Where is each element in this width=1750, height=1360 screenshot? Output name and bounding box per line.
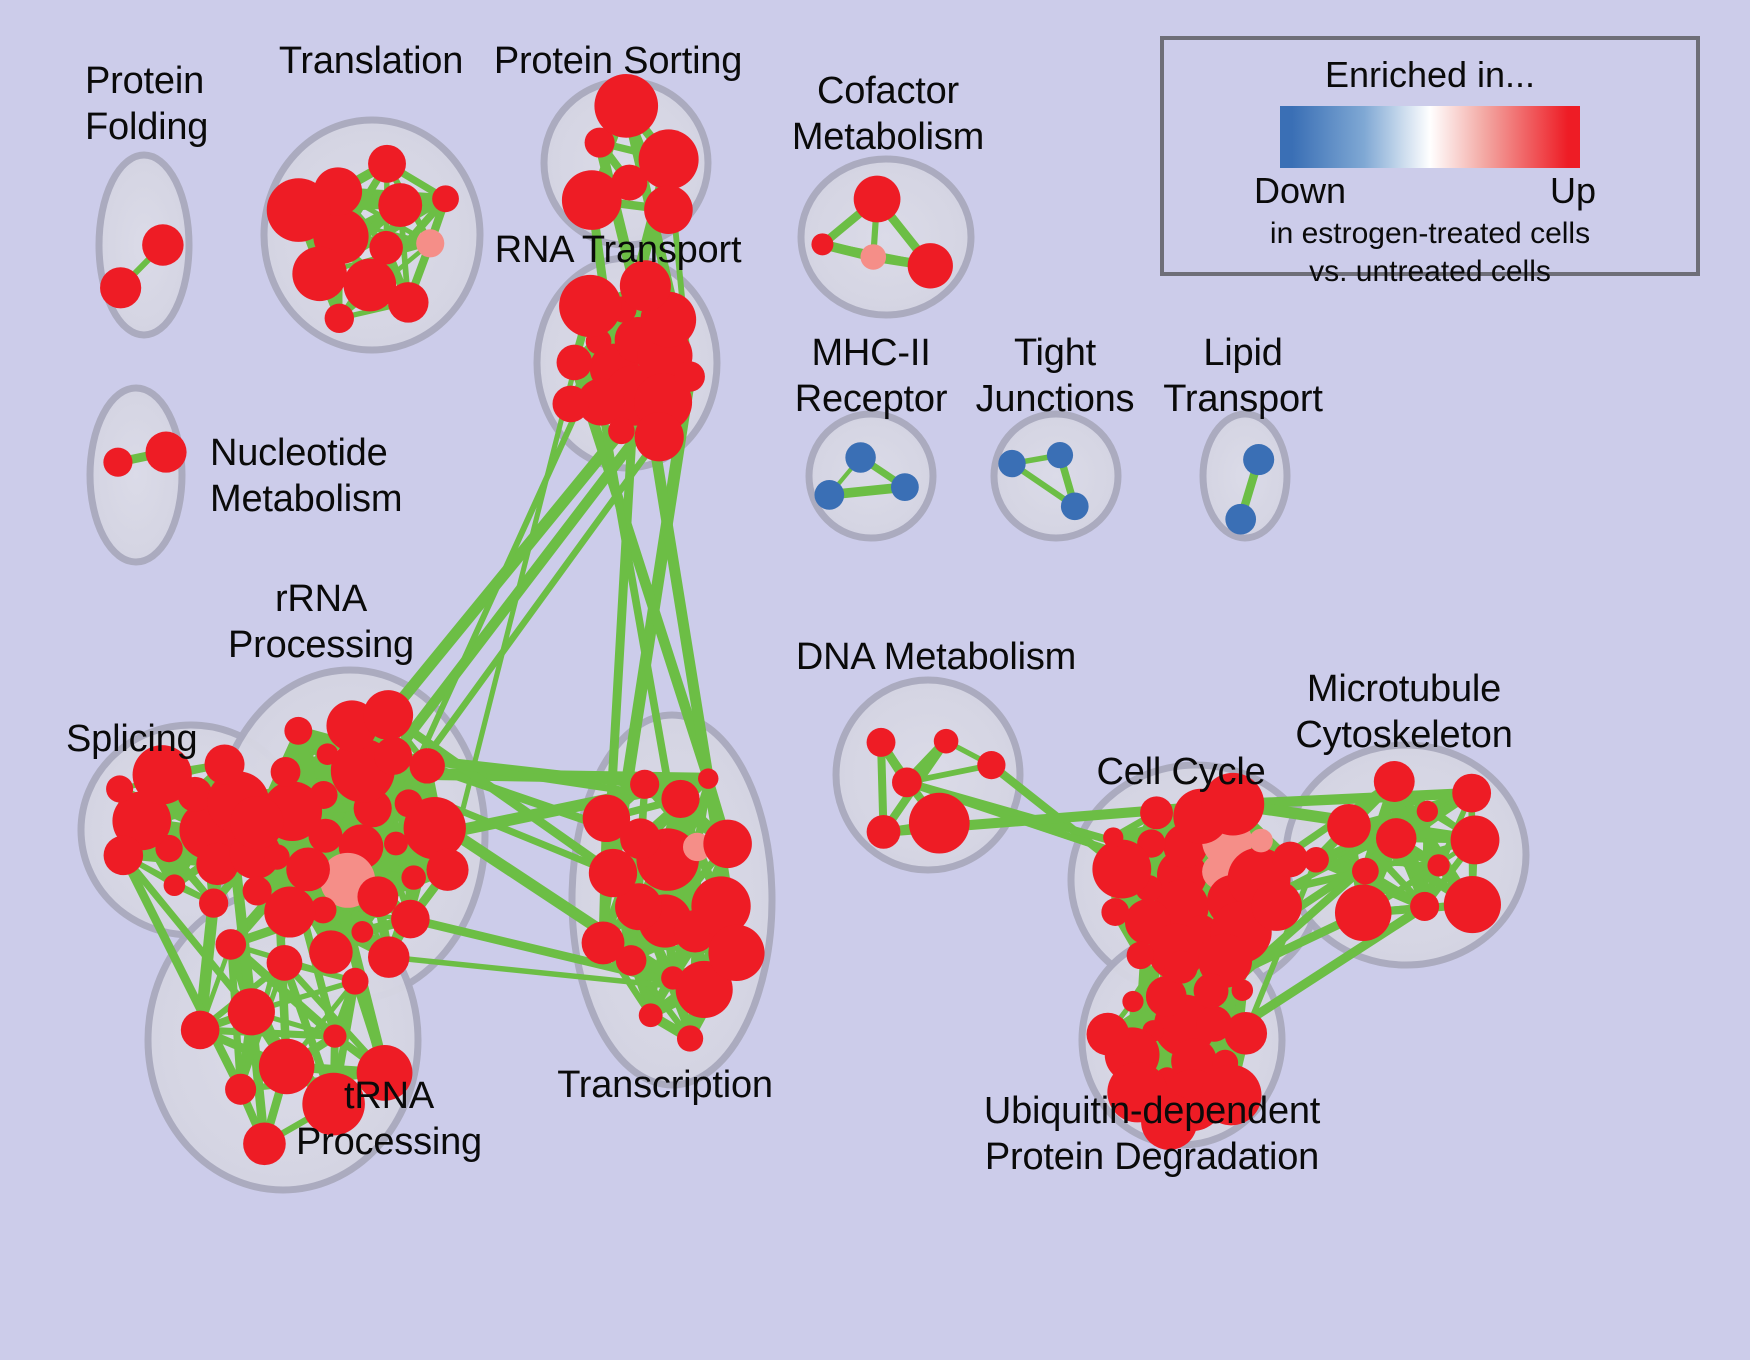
network-node [639, 129, 699, 189]
network-node [1376, 818, 1417, 859]
network-node [583, 795, 630, 842]
network-node [243, 1122, 286, 1165]
cluster-label-protein-folding: Protein Folding [85, 58, 208, 150]
network-node [1327, 804, 1371, 848]
network-node [1249, 829, 1273, 853]
network-node [608, 418, 635, 445]
cluster-label-cell-cycle: Cell Cycle [1096, 749, 1265, 795]
network-node [1243, 444, 1274, 475]
network-node [384, 832, 408, 856]
network-node [635, 412, 684, 461]
network-node [977, 751, 1005, 779]
network-node [1122, 991, 1143, 1012]
network-node [100, 267, 141, 308]
network-node [1335, 884, 1392, 941]
network-node [1092, 840, 1151, 899]
legend-caption-line-1: in estrogen-treated cells [1164, 216, 1696, 252]
network-node [698, 768, 718, 788]
network-node [557, 345, 593, 381]
network-node [225, 1074, 256, 1105]
cluster-label-nucleotide-metabolism: Nucleotide Metabolism [210, 430, 402, 522]
network-node [317, 743, 339, 765]
network-node [630, 770, 659, 799]
network-node [1374, 761, 1415, 802]
network-node [1101, 898, 1129, 926]
cluster-region [809, 414, 933, 538]
cluster-label-microtubule-cytoskeleton: Microtubule Cytoskeleton [1295, 666, 1512, 758]
network-node [216, 929, 247, 960]
network-node [164, 874, 186, 896]
cluster-region [90, 388, 182, 562]
network-node [845, 442, 875, 472]
network-node [286, 848, 330, 892]
network-node [284, 717, 312, 745]
legend-box: Enriched in... Down Up in estrogen-treat… [1160, 36, 1700, 276]
network-node [1410, 892, 1439, 921]
network-node [103, 448, 132, 477]
network-node [325, 304, 354, 333]
network-node [1103, 827, 1123, 847]
network-node [368, 936, 410, 978]
network-node [1225, 504, 1256, 535]
network-node [357, 876, 398, 917]
network-node [205, 744, 245, 784]
network-node [416, 229, 444, 257]
network-node [368, 145, 406, 183]
network-node [267, 945, 303, 981]
network-node [1352, 858, 1379, 885]
network-node [934, 729, 959, 754]
network-node [351, 921, 373, 943]
network-node [1427, 854, 1449, 876]
network-node [243, 876, 272, 905]
network-node [891, 473, 919, 501]
network-node [323, 1025, 346, 1048]
network-node [1303, 847, 1329, 873]
network-node [1047, 442, 1073, 468]
network-node [559, 275, 621, 337]
network-node [860, 244, 886, 270]
network-node [228, 988, 275, 1035]
cluster-label-trna-processing: tRNA Processing [296, 1073, 482, 1165]
network-node [674, 361, 704, 391]
network-node [1252, 881, 1302, 931]
color-scale-bar [1280, 106, 1580, 168]
network-node [1451, 816, 1500, 865]
cluster-label-translation: Translation [279, 38, 463, 84]
network-node [378, 183, 422, 227]
legend-caption-line-2: vs. untreated cells [1164, 254, 1696, 290]
network-node [230, 796, 283, 849]
cluster-label-lipid-transport: Lipid Transport [1163, 330, 1322, 422]
legend-low-label: Down [1254, 170, 1346, 212]
legend-high-label: Up [1550, 170, 1596, 212]
network-node [309, 930, 353, 974]
network-node [892, 767, 922, 797]
network-node [292, 247, 347, 302]
network-node [908, 243, 953, 288]
network-node [1273, 842, 1309, 878]
network-node [703, 820, 752, 869]
cluster-label-protein-sorting: Protein Sorting [494, 38, 742, 84]
network-node [1140, 796, 1173, 829]
network-node [342, 968, 369, 995]
cluster-label-transcription: Transcription [557, 1062, 773, 1108]
network-node [1444, 876, 1501, 933]
network-node [401, 865, 425, 889]
network-node [271, 757, 301, 787]
network-node [181, 1011, 220, 1050]
network-node [1165, 951, 1198, 984]
network-node [104, 836, 144, 876]
cluster-label-tight-junctions: Tight Junctions [976, 330, 1135, 422]
network-node [432, 185, 459, 212]
cluster-label-splicing: Splicing [66, 716, 197, 762]
network-node [553, 386, 590, 423]
network-node [1087, 1013, 1130, 1056]
network-node [582, 921, 625, 964]
network-node [854, 176, 901, 223]
network-node [639, 1003, 663, 1027]
network-node [1452, 774, 1491, 813]
network-node [146, 432, 187, 473]
cluster-label-cofactor-metabolism: Cofactor Metabolism [792, 68, 984, 160]
cluster-label-rna-transport: RNA Transport [495, 227, 742, 273]
network-node [1232, 979, 1253, 1000]
legend-title: Enriched in... [1164, 54, 1696, 96]
network-node [814, 480, 844, 510]
network-node [1194, 973, 1229, 1008]
network-node [264, 886, 315, 937]
network-node [142, 224, 183, 265]
network-node [867, 728, 896, 757]
network-node [708, 925, 764, 981]
network-node [1061, 492, 1089, 520]
network-node [661, 780, 699, 818]
network-node [1417, 801, 1438, 822]
network-node [374, 737, 412, 775]
network-node [267, 178, 331, 242]
network-node [867, 815, 901, 849]
cluster-label-ubiquitin-protein-degradation: Ubiquitin-dependent Protein Degradation [984, 1088, 1320, 1180]
network-node [426, 849, 468, 891]
network-node [589, 849, 637, 897]
network-node [811, 233, 833, 255]
cluster-label-rrna-processing: rRNA Processing [228, 576, 414, 668]
color-scale-endpoints: Down Up [1260, 170, 1600, 214]
cluster-label-mhc-ii-receptor: MHC-II Receptor [795, 330, 948, 422]
network-node [363, 690, 413, 740]
network-node [1127, 942, 1154, 969]
network-node [909, 793, 970, 854]
network-node [199, 889, 228, 918]
network-node [388, 282, 429, 323]
enrichment-map-figure: Protein FoldingTranslationProtein Sortin… [0, 0, 1750, 1360]
network-node [409, 748, 444, 783]
network-node [1224, 1012, 1267, 1055]
network-node [677, 1025, 703, 1051]
network-node [404, 797, 466, 859]
cluster-label-dna-metabolism: DNA Metabolism [796, 634, 1076, 680]
network-node [106, 775, 133, 802]
network-node [264, 844, 289, 869]
network-node [998, 450, 1025, 477]
network-node [391, 900, 430, 939]
network-node [562, 170, 622, 230]
